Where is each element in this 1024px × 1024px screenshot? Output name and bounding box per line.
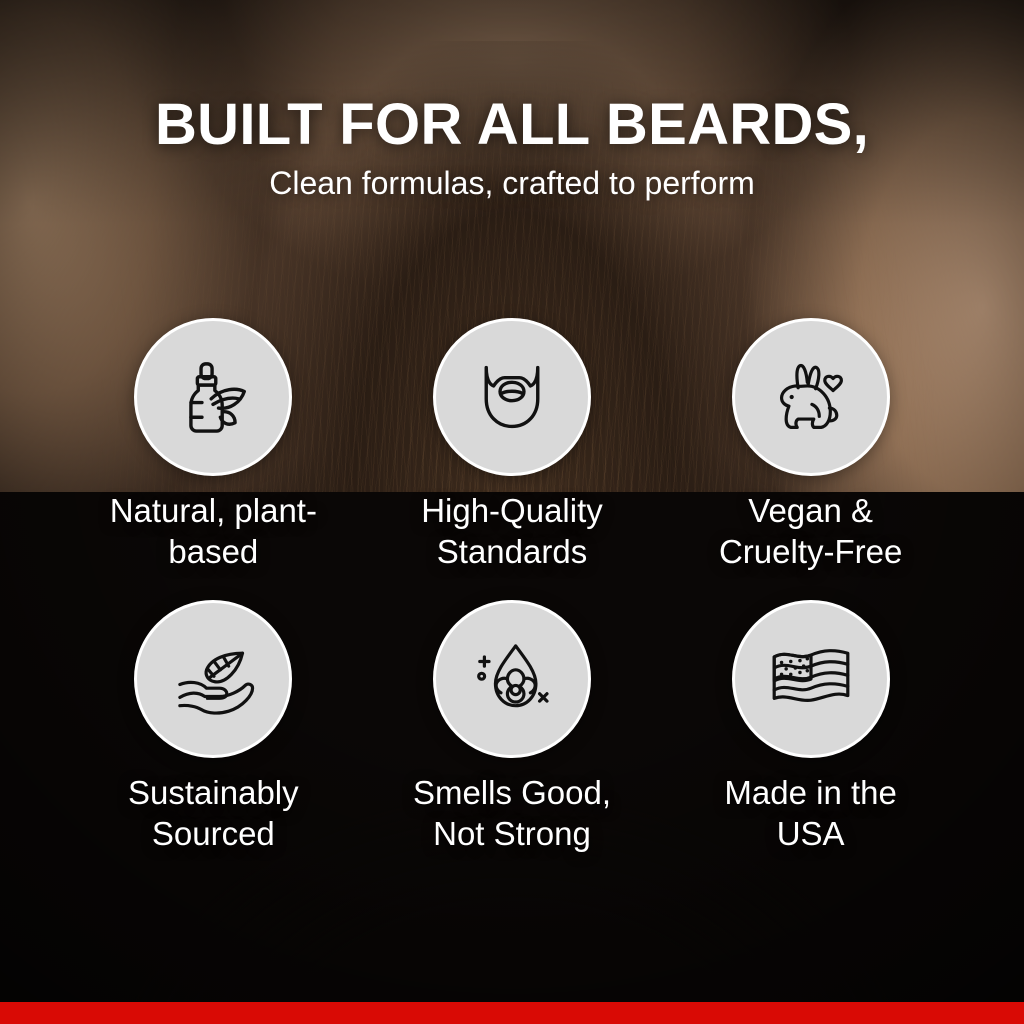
feature-label: Made in the USA: [696, 772, 926, 854]
rabbit-heart-icon: [765, 351, 857, 443]
feature-item: Vegan & Cruelty-Free: [661, 318, 960, 572]
feature-label: Natural, plant-based: [98, 490, 328, 572]
droplet-flower-icon: [466, 633, 558, 725]
feature-icon-badge: [732, 318, 890, 476]
feature-item: Sustainably Sourced: [64, 600, 363, 854]
beard-icon: [466, 351, 558, 443]
promo-poster: BUILT FOR ALL BEARDS, Clean formulas, cr…: [0, 0, 1024, 1024]
feature-icon-badge: [433, 600, 591, 758]
feature-item: Smells Good, Not Strong: [363, 600, 662, 854]
page-subtitle: Clean formulas, crafted to perform: [0, 164, 1024, 202]
usa-flag-icon: [765, 633, 857, 725]
feature-item: High-Quality Standards: [363, 318, 662, 572]
feature-grid: Natural, plant-based High-Quality Standa…: [64, 318, 960, 854]
feature-icon-badge: [732, 600, 890, 758]
feature-item: Made in the USA: [661, 600, 960, 854]
dropper-bottle-leaf-icon: [167, 351, 259, 443]
feature-label: High-Quality Standards: [397, 490, 627, 572]
bottom-accent-bar: [0, 1002, 1024, 1024]
feature-icon-badge: [433, 318, 591, 476]
feature-label: Vegan & Cruelty-Free: [696, 490, 926, 572]
feature-item: Natural, plant-based: [64, 318, 363, 572]
page-title: BUILT FOR ALL BEARDS,: [0, 96, 1024, 154]
feature-icon-badge: [134, 600, 292, 758]
feature-label: Smells Good, Not Strong: [397, 772, 627, 854]
hand-leaf-icon: [167, 633, 259, 725]
feature-label: Sustainably Sourced: [98, 772, 328, 854]
feature-icon-badge: [134, 318, 292, 476]
